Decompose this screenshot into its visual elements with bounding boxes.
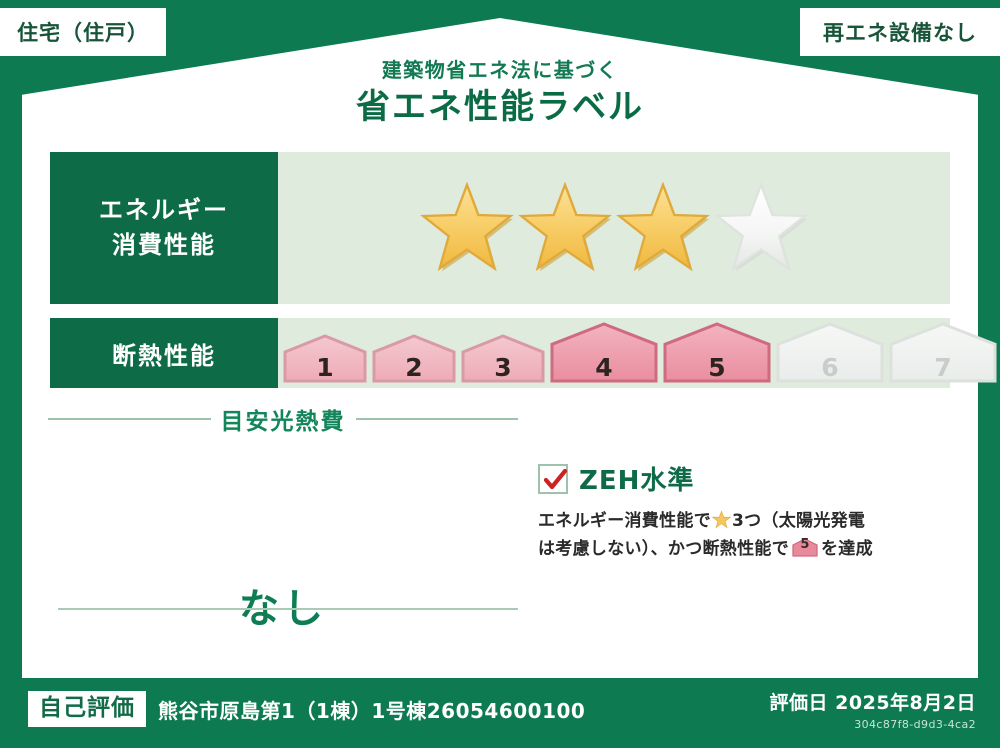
insulation-grade-value: 7 (888, 355, 998, 380)
star-rating (419, 180, 809, 276)
zeh-header: ZEH水準 (538, 460, 953, 497)
zeh-desc-part3: は考慮しない）、かつ断熱性能で (538, 539, 789, 559)
check-mark-icon (542, 467, 568, 493)
star-filled (517, 180, 613, 276)
row-energy-performance: エネルギー 消費性能 (50, 152, 950, 304)
insulation-grade-5: 5 (662, 322, 772, 384)
insulation-grade-value: 6 (775, 355, 885, 380)
label-title: 建築物省エネ法に基づく 省エネ性能ラベル (0, 58, 1000, 129)
cost-rule-right (356, 418, 519, 420)
row-insulation-value: 1234567 (278, 318, 998, 388)
footer-bar: 自己評価 熊谷市原島第1（1棟）1号棟26054600100 評価日 2025年… (0, 670, 1000, 748)
insulation-grade-1: 1 (282, 334, 368, 384)
insulation-grade-7: 7 (888, 322, 998, 384)
tag-building-type: 住宅（住戸） (0, 8, 166, 56)
inline-grade-badge: 5 (792, 538, 818, 557)
insulation-grade-2: 2 (371, 334, 457, 384)
evaluation-date-label: 評価日 (770, 692, 829, 714)
inline-star-icon (712, 510, 731, 529)
row-energy-value (278, 152, 950, 304)
star-empty (713, 180, 809, 276)
footer-right: 評価日 2025年8月2日 304c87f8-d9d3-4ca2 (770, 688, 976, 731)
title-subtitle: 建築物省エネ法に基づく (0, 58, 1000, 82)
insulation-grade-3: 3 (460, 334, 546, 384)
insulation-grade-value: 2 (371, 355, 457, 380)
tag-renewable-energy: 再エネ設備なし (800, 8, 1000, 56)
insulation-grade-6: 6 (775, 322, 885, 384)
insulation-grade-value: 3 (460, 355, 546, 380)
energy-label-root: 住宅（住戸） 再エネ設備なし 建築物省エネ法に基づく 省エネ性能ラベル エネルギ… (0, 0, 1000, 748)
estimated-cost-header: 目安光熱費 (48, 402, 518, 436)
row-energy-label: エネルギー 消費性能 (50, 152, 278, 304)
insulation-grade-value: 4 (549, 355, 659, 380)
row-insulation-label: 断熱性能 (50, 318, 278, 388)
zeh-description: エネルギー消費性能で 3つ（太陽光発電 は考慮しない）、かつ断熱性能で 5 を達… (538, 508, 953, 563)
zeh-desc-part4: を達成 (821, 539, 873, 559)
cost-value: なし (48, 576, 518, 634)
cost-rule-left (48, 418, 211, 420)
insulation-grade-value: 1 (282, 355, 368, 380)
zeh-title: ZEH水準 (579, 460, 694, 497)
cost-title: 目安光熱費 (221, 402, 346, 436)
row-energy-label-line1: エネルギー (99, 193, 229, 228)
assessment-type-badge: 自己評価 (28, 691, 146, 728)
evaluation-date-value: 2025年8月2日 (835, 692, 976, 714)
zeh-block: ZEH水準 エネルギー消費性能で 3つ（太陽光発電 は考慮しない）、かつ断熱性能… (538, 460, 953, 563)
content-panel: エネルギー 消費性能 断熱性能 1234567 目安光熱費 なし (30, 140, 970, 658)
cost-bottom-divider (58, 608, 518, 610)
zeh-desc-part1: エネルギー消費性能で (538, 511, 711, 531)
insulation-grade-4: 4 (549, 322, 659, 384)
star-filled (419, 180, 515, 276)
inline-grade-value: 5 (792, 538, 818, 557)
zeh-desc-part2: 3つ（太陽光発電 (732, 511, 865, 531)
insulation-grade-value: 5 (662, 355, 772, 380)
row-insulation-performance: 断熱性能 1234567 (50, 318, 950, 388)
row-energy-label-line2: 消費性能 (112, 228, 216, 263)
insulation-grade-scale: 1234567 (278, 322, 998, 384)
property-address: 熊谷市原島第1（1棟）1号棟26054600100 (158, 695, 585, 724)
zeh-checkbox[interactable] (538, 464, 568, 494)
evaluation-date: 評価日 2025年8月2日 (770, 688, 976, 715)
evaluation-id: 304c87f8-d9d3-4ca2 (770, 718, 976, 731)
star-filled (615, 180, 711, 276)
title-main: 省エネ性能ラベル (0, 85, 1000, 129)
